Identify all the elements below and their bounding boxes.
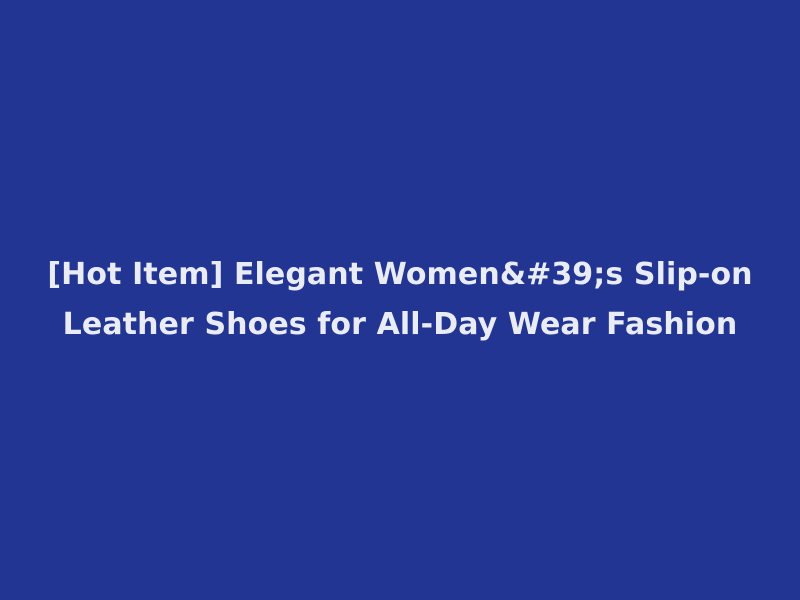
title-card: [Hot Item] Elegant Women&#39;s Slip-on L…	[0, 0, 800, 600]
page-title: [Hot Item] Elegant Women&#39;s Slip-on L…	[40, 250, 760, 350]
